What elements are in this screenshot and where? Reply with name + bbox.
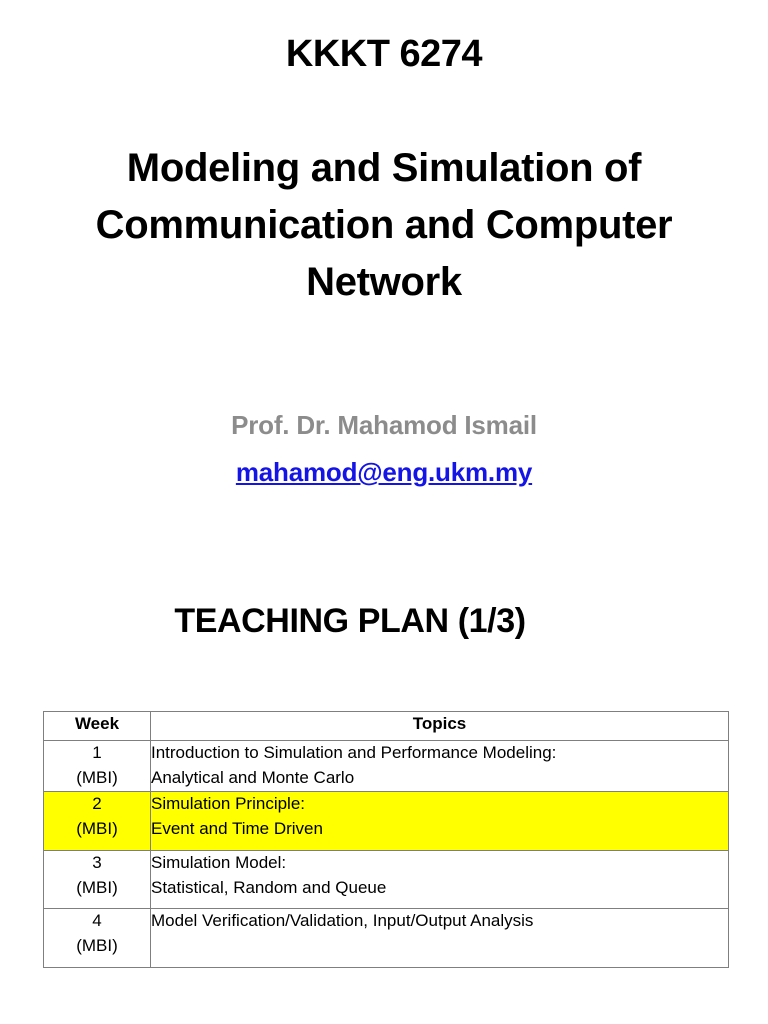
cell-week: 4 (MBI) (44, 909, 151, 968)
course-title-line-3: Network (64, 254, 704, 311)
cell-topics: Model Verification/Validation, Input/Out… (151, 909, 729, 968)
table-row[interactable]: 3 (MBI) Simulation Model: Statistical, R… (44, 851, 729, 909)
week-number: 3 (44, 851, 150, 876)
cell-topics: Simulation Principle: Event and Time Dri… (151, 792, 729, 851)
week-number: 1 (44, 741, 150, 766)
topic-line: Introduction to Simulation and Performan… (151, 741, 728, 766)
topic-line: Simulation Model: (151, 851, 728, 876)
topic-line: Analytical and Monte Carlo (151, 766, 728, 791)
teaching-plan-table: Week Topics 1 (MBI) Introduction to Simu… (43, 711, 729, 968)
topic-line: Event and Time Driven (151, 817, 728, 842)
cell-week: 1 (MBI) (44, 741, 151, 792)
topic-line: Statistical, Random and Queue (151, 876, 728, 901)
presenter-block: Prof. Dr. Mahamod Ismail mahamod@eng.ukm… (0, 408, 768, 488)
course-code: KKKT 6274 (0, 34, 768, 76)
presenter-name: Prof. Dr. Mahamod Ismail (0, 408, 768, 443)
topic-line: Model Verification/Validation, Input/Out… (151, 909, 728, 934)
week-code: (MBI) (44, 766, 150, 791)
week-code: (MBI) (44, 876, 150, 901)
week-number: 4 (44, 909, 150, 934)
presenter-email-link[interactable]: mahamod@eng.ukm.my (236, 457, 532, 488)
course-title-line-1: Modeling and Simulation of (64, 140, 704, 197)
week-code: (MBI) (44, 934, 150, 959)
week-code: (MBI) (44, 817, 150, 842)
week-number: 2 (44, 792, 150, 817)
table-row[interactable]: 4 (MBI) Model Verification/Validation, I… (44, 909, 729, 968)
topic-line: Simulation Principle: (151, 792, 728, 817)
table-header-row: Week Topics (44, 712, 729, 741)
section-heading: TEACHING PLAN (1/3) (0, 602, 700, 641)
course-title-line-2: Communication and Computer (64, 197, 704, 254)
table-row[interactable]: 2 (MBI) Simulation Principle: Event and … (44, 792, 729, 851)
teaching-plan-table-wrapper: Week Topics 1 (MBI) Introduction to Simu… (43, 711, 728, 968)
table-row[interactable]: 1 (MBI) Introduction to Simulation and P… (44, 741, 729, 792)
column-header-week: Week (44, 712, 151, 741)
column-header-topics: Topics (151, 712, 729, 741)
course-title: Modeling and Simulation of Communication… (64, 140, 704, 310)
cell-topics: Simulation Model: Statistical, Random an… (151, 851, 729, 909)
cell-week: 3 (MBI) (44, 851, 151, 909)
cell-topics: Introduction to Simulation and Performan… (151, 741, 729, 792)
slide-canvas: KKKT 6274 Modeling and Simulation of Com… (0, 0, 768, 1024)
cell-week: 2 (MBI) (44, 792, 151, 851)
